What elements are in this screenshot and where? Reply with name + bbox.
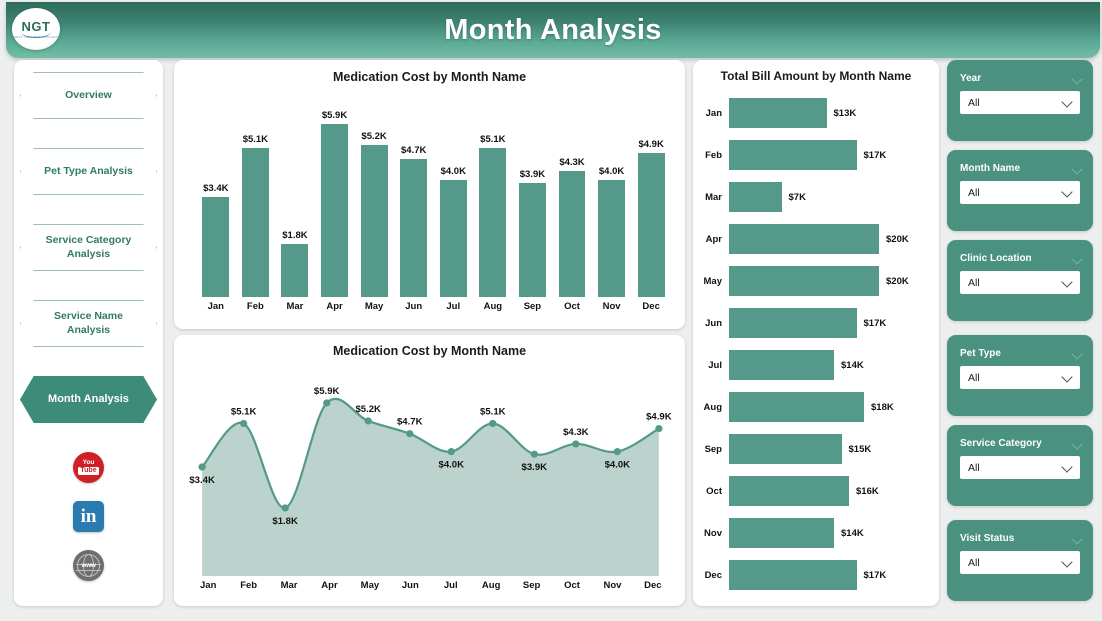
sidebar-item-month-analysis[interactable]: Month Analysis xyxy=(20,376,157,423)
bar-x-tick: Jul xyxy=(433,301,473,317)
hbar-row[interactable]: Sep$15K xyxy=(693,434,931,464)
bar-x-tick: Sep xyxy=(513,301,553,317)
bar-rect xyxy=(559,171,586,297)
sidebar-item-service-name-analysis[interactable]: Service Name Analysis xyxy=(20,300,157,347)
hbar-rect xyxy=(729,560,857,590)
hbar-chart-plot: Jan$13KFeb$17KMar$7KApr$20KMay$20KJun$17… xyxy=(693,92,931,596)
hbar-row[interactable]: Jan$13K xyxy=(693,98,931,128)
area-marker[interactable] xyxy=(614,448,621,455)
chevron-down-icon xyxy=(1061,371,1072,382)
hbar-value-label: $20K xyxy=(886,276,909,287)
hbar-category-label: Aug xyxy=(693,402,729,413)
hbar-value-label: $17K xyxy=(864,570,887,581)
hbar-value-label: $17K xyxy=(864,318,887,329)
hbar-row[interactable]: Aug$18K xyxy=(693,392,931,422)
filter-label: Visit Status xyxy=(960,533,1014,544)
bar-value-label: $5.2K xyxy=(361,131,386,142)
sidebar-item-label: Month Analysis xyxy=(36,393,141,407)
area-marker[interactable] xyxy=(448,448,455,455)
area-value-label: $5.1K xyxy=(231,407,257,418)
bar-column[interactable]: $3.9K xyxy=(513,96,553,297)
bar-x-tick: Aug xyxy=(473,301,513,317)
bar-rect xyxy=(202,197,229,297)
hbar-row[interactable]: Jun$17K xyxy=(693,308,931,338)
filter-dropdown[interactable]: All xyxy=(960,551,1080,574)
hbar-row[interactable]: Nov$14K xyxy=(693,518,931,548)
filter-dropdown[interactable]: All xyxy=(960,271,1080,294)
area-value-label: $4.7K xyxy=(397,417,423,428)
bar-rect xyxy=(242,148,269,297)
chevron-down-icon[interactable] xyxy=(1071,348,1082,359)
sidebar-item-label: Pet Type Analysis xyxy=(32,165,145,178)
chevron-down-icon[interactable] xyxy=(1071,73,1082,84)
area-marker[interactable] xyxy=(489,420,496,427)
bar-x-tick: Apr xyxy=(315,301,355,317)
area-value-label: $4.0K xyxy=(439,460,465,471)
bar-chart-title: Medication Cost by Month Name xyxy=(174,70,685,84)
bar-column[interactable]: $1.8K xyxy=(275,96,315,297)
bar-rect xyxy=(281,244,308,297)
hbar-row[interactable]: Feb$17K xyxy=(693,140,931,170)
area-x-tick: Mar xyxy=(269,580,309,596)
bar-x-tick: Feb xyxy=(236,301,276,317)
filter-selected-value: All xyxy=(960,557,980,569)
bar-column[interactable]: $4.0K xyxy=(433,96,473,297)
sidebar-item-label: Service Name Analysis xyxy=(20,310,157,336)
area-value-label: $5.9K xyxy=(314,386,340,397)
area-marker[interactable] xyxy=(282,504,289,511)
bar-value-label: $1.8K xyxy=(282,230,307,241)
area-chart-plot: $3.4K$5.1K$1.8K$5.9K$5.2K$4.7K$4.0K$5.1K… xyxy=(188,363,673,576)
bar-x-tick: Nov xyxy=(592,301,632,317)
bar-value-label: $5.1K xyxy=(243,134,268,145)
bar-x-tick: Dec xyxy=(631,301,671,317)
area-marker[interactable] xyxy=(406,430,413,437)
hbar-value-label: $14K xyxy=(841,528,864,539)
hbar-row[interactable]: Apr$20K xyxy=(693,224,931,254)
area-marker[interactable] xyxy=(240,420,247,427)
youtube-icon-line1: You xyxy=(83,460,95,467)
hbar-rect xyxy=(729,98,827,128)
medication-cost-bar-chart: Medication Cost by Month Name $3.4K$5.1K… xyxy=(174,60,685,329)
bar-value-label: $4.0K xyxy=(441,166,466,177)
sidebar-item-overview[interactable]: Overview xyxy=(20,72,157,119)
bar-column[interactable]: $4.0K xyxy=(592,96,632,297)
area-x-tick: Jul xyxy=(431,580,471,596)
sidebar: OverviewPet Type AnalysisService Categor… xyxy=(14,60,163,606)
hbar-value-label: $7K xyxy=(789,192,806,203)
sidebar-item-label: Overview xyxy=(53,89,124,102)
bar-value-label: $4.0K xyxy=(599,166,624,177)
bar-rect xyxy=(519,183,546,297)
area-x-tick: Dec xyxy=(633,580,673,596)
area-marker[interactable] xyxy=(198,463,205,470)
logo-text: NGT xyxy=(22,20,51,33)
sidebar-item-pet-type-analysis[interactable]: Pet Type Analysis xyxy=(20,148,157,195)
filter-label: Service Category xyxy=(960,438,1042,449)
sidebar-item-service-category-analysis[interactable]: Service Category Analysis xyxy=(20,224,157,271)
globe-icon-label: www xyxy=(81,562,95,569)
hbar-category-label: Nov xyxy=(693,528,729,539)
hbar-category-label: Feb xyxy=(693,150,729,161)
hbar-value-label: $13K xyxy=(834,108,857,119)
bar-value-label: $5.9K xyxy=(322,110,347,121)
bar-rect xyxy=(598,180,625,297)
filter-pet-type: Pet TypeAll xyxy=(947,335,1093,416)
bar-chart-x-axis: JanFebMarAprMayJunJulAugSepOctNovDec xyxy=(196,301,671,317)
bar-value-label: $5.1K xyxy=(480,134,505,145)
sidebar-nav: OverviewPet Type AnalysisService Categor… xyxy=(14,60,163,423)
area-value-label: $5.2K xyxy=(355,404,381,415)
hbar-category-label: Mar xyxy=(693,192,729,203)
hbar-rect xyxy=(729,308,857,338)
chevron-down-icon[interactable] xyxy=(1071,438,1082,449)
dashboard-page: Month Analysis NGT NEXT GEN TECHNOLOGY O… xyxy=(0,0,1102,621)
bar-x-tick: Jun xyxy=(394,301,434,317)
bar-x-tick: Oct xyxy=(552,301,592,317)
area-marker[interactable] xyxy=(572,440,579,447)
bar-rect xyxy=(638,153,665,297)
globe-icon[interactable]: www xyxy=(73,550,104,581)
hbar-category-label: Oct xyxy=(693,486,729,497)
hbar-rect xyxy=(729,224,879,254)
area-x-tick: Jun xyxy=(390,580,430,596)
hbar-row[interactable]: Mar$7K xyxy=(693,182,931,212)
area-value-label: $3.4K xyxy=(189,475,215,486)
filter-label: Year xyxy=(960,73,981,84)
linkedin-icon-label: in xyxy=(81,507,97,526)
area-chart-x-axis: JanFebMarAprMayJunJulAugSepOctNovDec xyxy=(188,580,673,596)
area-chart-title: Medication Cost by Month Name xyxy=(174,344,685,358)
hbar-rect xyxy=(729,518,834,548)
bar-rect xyxy=(479,148,506,297)
hbar-row[interactable]: Oct$16K xyxy=(693,476,931,506)
area-x-tick: Oct xyxy=(552,580,592,596)
area-x-tick: May xyxy=(350,580,390,596)
bar-column[interactable]: $5.1K xyxy=(473,96,513,297)
area-marker[interactable] xyxy=(531,451,538,458)
hbar-row[interactable]: Jul$14K xyxy=(693,350,931,380)
filter-service-category: Service CategoryAll xyxy=(947,425,1093,506)
hbar-category-label: Jun xyxy=(693,318,729,329)
bar-column[interactable]: $3.4K xyxy=(196,96,236,297)
hbar-rect xyxy=(729,350,834,380)
area-x-tick: Sep xyxy=(511,580,551,596)
hbar-category-label: Jan xyxy=(693,108,729,119)
chevron-down-icon xyxy=(1061,276,1072,287)
filter-selected-value: All xyxy=(960,97,980,109)
chevron-down-icon[interactable] xyxy=(1071,533,1082,544)
chevron-down-icon xyxy=(1061,96,1072,107)
hbar-rect xyxy=(729,140,857,170)
globe-parallel-bottom xyxy=(76,570,101,571)
hbar-rect xyxy=(729,476,849,506)
area-x-tick: Nov xyxy=(592,580,632,596)
chevron-down-icon xyxy=(1061,556,1072,567)
chevron-down-icon[interactable] xyxy=(1071,253,1082,264)
social-links: You Tube in www xyxy=(14,452,163,581)
hbar-category-label: Jul xyxy=(693,360,729,371)
bar-column[interactable]: $5.9K xyxy=(315,96,355,297)
bar-chart-plot: $3.4K$5.1K$1.8K$5.9K$5.2K$4.7K$4.0K$5.1K… xyxy=(196,96,671,297)
hbar-value-label: $20K xyxy=(886,234,909,245)
hbar-category-label: Sep xyxy=(693,444,729,455)
filter-selected-value: All xyxy=(960,277,980,289)
filter-selected-value: All xyxy=(960,462,980,474)
chevron-down-icon xyxy=(1061,186,1072,197)
bar-rect xyxy=(361,145,388,297)
total-bill-bar-chart: Total Bill Amount by Month Name Jan$13KF… xyxy=(693,60,939,606)
hbar-category-label: Dec xyxy=(693,570,729,581)
filter-label: Month Name xyxy=(960,163,1020,174)
bar-column[interactable]: $5.2K xyxy=(354,96,394,297)
filter-dropdown[interactable]: All xyxy=(960,456,1080,479)
bar-value-label: $4.7K xyxy=(401,145,426,156)
area-marker[interactable] xyxy=(323,399,330,406)
filter-label: Pet Type xyxy=(960,348,1001,359)
chevron-down-icon[interactable] xyxy=(1071,163,1082,174)
area-value-label: $1.8K xyxy=(272,516,298,527)
hbar-chart-title: Total Bill Amount by Month Name xyxy=(693,69,939,83)
bar-column[interactable]: $4.9K xyxy=(631,96,671,297)
linkedin-icon[interactable]: in xyxy=(73,501,104,532)
hbar-value-label: $16K xyxy=(856,486,879,497)
area-x-tick: Jan xyxy=(188,580,228,596)
hbar-row[interactable]: May$20K xyxy=(693,266,931,296)
youtube-icon[interactable]: You Tube xyxy=(73,452,104,483)
hbar-value-label: $17K xyxy=(864,150,887,161)
area-value-label: $4.3K xyxy=(563,427,589,438)
hbar-rect xyxy=(729,434,842,464)
hbar-rect xyxy=(729,266,879,296)
youtube-icon-line2: Tube xyxy=(78,467,98,475)
hbar-rect xyxy=(729,182,782,212)
bar-column[interactable]: $4.7K xyxy=(394,96,434,297)
brand-logo: NGT NEXT GEN TECHNOLOGY xyxy=(12,8,60,50)
bar-rect xyxy=(440,180,467,297)
hbar-category-label: May xyxy=(693,276,729,287)
bar-x-tick: Mar xyxy=(275,301,315,317)
bar-rect xyxy=(400,159,427,297)
filter-month-name: Month NameAll xyxy=(947,150,1093,231)
hbar-rect xyxy=(729,392,864,422)
filter-dropdown[interactable]: All xyxy=(960,91,1080,114)
filter-selected-value: All xyxy=(960,187,980,199)
bar-column[interactable]: $4.3K xyxy=(552,96,592,297)
area-value-label: $5.1K xyxy=(480,407,506,418)
sidebar-item-label: Service Category Analysis xyxy=(20,234,157,260)
hbar-category-label: Apr xyxy=(693,234,729,245)
filter-clinic-location: Clinic LocationAll xyxy=(947,240,1093,321)
chevron-down-icon xyxy=(1061,461,1072,472)
area-x-tick: Feb xyxy=(228,580,268,596)
bar-value-label: $3.9K xyxy=(520,169,545,180)
medication-cost-area-chart: Medication Cost by Month Name $3.4K$5.1K… xyxy=(174,335,685,606)
hbar-value-label: $18K xyxy=(871,402,894,413)
area-value-label: $4.9K xyxy=(646,412,672,423)
page-title: Month Analysis xyxy=(444,14,661,47)
area-value-label: $4.0K xyxy=(605,460,631,471)
bar-value-label: $4.9K xyxy=(638,139,663,150)
hbar-row[interactable]: Dec$17K xyxy=(693,560,931,590)
bar-value-label: $3.4K xyxy=(203,183,228,194)
filter-visit-status: Visit StatusAll xyxy=(947,520,1093,601)
filter-dropdown[interactable]: All xyxy=(960,366,1080,389)
bar-rect xyxy=(321,124,348,297)
hbar-value-label: $14K xyxy=(841,360,864,371)
bar-column[interactable]: $5.1K xyxy=(236,96,276,297)
hbar-value-label: $15K xyxy=(849,444,872,455)
area-value-label: $3.9K xyxy=(522,462,548,473)
area-x-tick: Apr xyxy=(309,580,349,596)
area-x-tick: Aug xyxy=(471,580,511,596)
area-marker[interactable] xyxy=(365,417,372,424)
filter-year: YearAll xyxy=(947,60,1093,141)
bar-x-tick: Jan xyxy=(196,301,236,317)
page-header: Month Analysis xyxy=(6,2,1100,58)
bar-value-label: $4.3K xyxy=(559,157,584,168)
filter-label: Clinic Location xyxy=(960,253,1032,264)
filter-selected-value: All xyxy=(960,372,980,384)
bar-x-tick: May xyxy=(354,301,394,317)
filter-dropdown[interactable]: All xyxy=(960,181,1080,204)
area-marker[interactable] xyxy=(655,425,662,432)
